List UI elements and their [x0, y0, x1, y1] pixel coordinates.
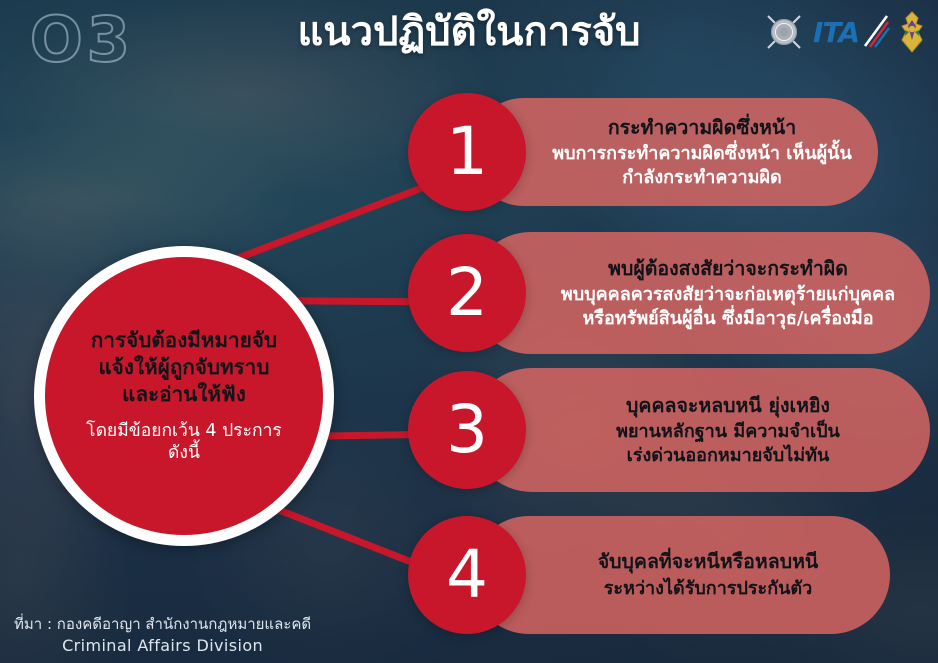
item-body-line: กำลังกระทำความผิด [552, 166, 852, 190]
hub-sub-line-1: โดยมีข้อยกเว้น 4 ประการ [86, 420, 282, 443]
list-item[interactable]: บุคคลจะหลบหนี ยุ่งเหยิง พยานหลักฐาน มีคว… [408, 368, 930, 492]
hub-main-text: การจับต้องมีหมายจับ แจ้งให้ผู้ถูกจับทราบ… [91, 327, 277, 409]
item-number-badge: 2 [408, 234, 526, 352]
infographic-canvas: O3 แนวปฏิบัติในการจับ ITA [0, 0, 938, 663]
list-item[interactable]: พบผู้ต้องสงสัยว่าจะกระทำผิด พบบุคคลควรสง… [408, 232, 930, 354]
hub-line-1: การจับต้องมีหมายจับ [91, 327, 277, 354]
item-heading: กระทำความผิดซึ่งหน้า [608, 115, 796, 140]
hub-line-3: และอ่านให้ฟัง [91, 381, 277, 408]
item-heading: บุคคลจะหลบหนี ยุ่งเหยิง [626, 393, 830, 418]
item-number-badge: 1 [408, 93, 526, 211]
item-body-line: พยานหลักฐาน มีความจำเป็น [616, 420, 840, 444]
item-heading: จับบุคลที่จะหนีหรือหลบหนี [598, 549, 819, 574]
item-number-badge: 4 [408, 516, 526, 634]
hub-subtext: โดยมีข้อยกเว้น 4 ประการ ดังนี้ [86, 420, 282, 466]
item-body: ระหว่างได้รับการประกันตัว [604, 577, 812, 601]
hub-line-2: แจ้งให้ผู้ถูกจับทราบ [91, 354, 277, 381]
list-item[interactable]: จับบุคลที่จะหนีหรือหลบหนี ระหว่างได้รับก… [408, 516, 890, 634]
item-body-line: ระหว่างได้รับการประกันตัว [604, 577, 812, 601]
item-body-line: พบบุคคลควรสงสัยว่าจะก่อเหตุร้ายแก่บุคคล [561, 283, 895, 307]
item-heading: พบผู้ต้องสงสัยว่าจะกระทำผิด [608, 256, 848, 281]
item-pill: จับบุคลที่จะหนีหรือหลบหนี ระหว่างได้รับก… [470, 516, 890, 634]
list-item[interactable]: กระทำความผิดซึ่งหน้า พบการกระทำความผิดซึ… [408, 98, 878, 206]
footer-line-2: Criminal Affairs Division [14, 635, 311, 657]
item-body: พยานหลักฐาน มีความจำเป็น เร่งด่วนออกหมาย… [616, 420, 840, 468]
item-body-line: เร่งด่วนออกหมายจับไม่ทัน [616, 444, 840, 468]
central-hub-circle: การจับต้องมีหมายจับ แจ้งให้ผู้ถูกจับทราบ… [34, 246, 334, 546]
item-body: พบบุคคลควรสงสัยว่าจะก่อเหตุร้ายแก่บุคคล … [561, 283, 895, 331]
item-pill: พบผู้ต้องสงสัยว่าจะกระทำผิด พบบุคคลควรสง… [470, 232, 930, 354]
hub-sub-line-2: ดังนี้ [86, 442, 282, 465]
item-pill: บุคคลจะหลบหนี ยุ่งเหยิง พยานหลักฐาน มีคว… [470, 368, 930, 492]
item-body-line: พบการกระทำความผิดซึ่งหน้า เห็นผู้นั้น [552, 142, 852, 166]
item-pill: กระทำความผิดซึ่งหน้า พบการกระทำความผิดซึ… [470, 98, 878, 206]
item-body: พบการกระทำความผิดซึ่งหน้า เห็นผู้นั้น กำ… [552, 142, 852, 190]
item-number-badge: 3 [408, 371, 526, 489]
item-body-line: หรือทรัพย์สินผู้อื่น ซึ่งมีอาวุธ/เครื่อง… [561, 307, 895, 331]
source-footer: ที่มา : กองคดีอาญา สำนักงานกฎหมายและคดี … [14, 614, 311, 657]
footer-line-1: ที่มา : กองคดีอาญา สำนักงานกฎหมายและคดี [14, 614, 311, 635]
